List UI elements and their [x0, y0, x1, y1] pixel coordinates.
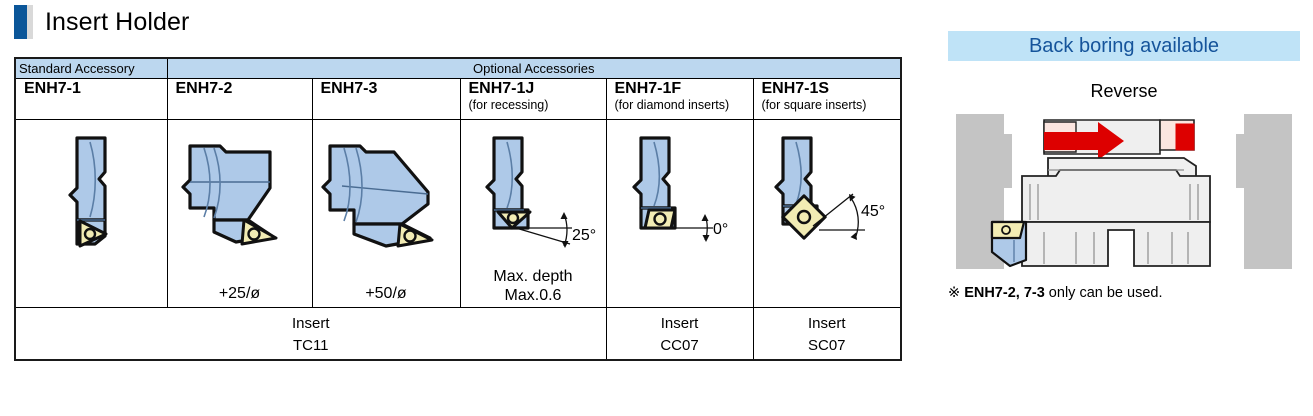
column-name-cell: ENH7-2: [167, 79, 312, 120]
column-name: ENH7-1F: [607, 79, 753, 98]
insert-value: TC11: [16, 335, 606, 357]
column-name-cell: ENH7-1J (for recessing): [460, 79, 606, 120]
column-subtitle: (for diamond inserts): [607, 98, 753, 113]
column-name-cell: ENH7-3: [312, 79, 460, 120]
note-rest-text: only can be used.: [1045, 285, 1163, 301]
page-root: Insert Holder Standard Accessory Optiona…: [0, 0, 1313, 416]
column-name-cell: ENH7-1S (for square inserts): [753, 79, 901, 120]
column-name: ENH7-3: [313, 79, 460, 98]
insert-cell-sc07: Insert SC07: [753, 308, 901, 361]
table-name-row: ENH7-1 ENH7-2 ENH7-3 ENH7-1J (for recess…: [15, 79, 901, 120]
status-badge: Back boring available: [948, 31, 1300, 61]
holder-illustration-enh7-1f: 0°: [607, 120, 753, 268]
tool-holder-angled-25-icon: [174, 124, 306, 264]
tool-holder-diamond-icon: 0°: [617, 124, 743, 264]
insert-cell-tc11: Insert TC11: [15, 308, 606, 361]
table-figure-row: +25/ø: [15, 120, 901, 308]
holder-illustration-enh7-1: [16, 120, 167, 268]
figure-cell-enh7-1f: 0°: [606, 120, 753, 308]
figure-caption-line2: Max.0.6: [461, 286, 606, 305]
figure-cell-enh7-2: +25/ø: [167, 120, 312, 308]
insert-label: Insert: [754, 308, 901, 335]
reverse-label: Reverse: [948, 81, 1300, 102]
angle-label-0: 0°: [713, 221, 728, 238]
tool-holder-angled-50-icon: [316, 124, 456, 264]
usage-note: ※ ENH7-2, 7-3 only can be used.: [948, 285, 1300, 301]
insert-cell-cc07: Insert CC07: [606, 308, 753, 361]
table-group-header-row: Standard Accessory Optional Accessories: [15, 58, 901, 79]
figure-cell-enh7-1s: 45°: [753, 120, 901, 308]
tool-holder-square-icon: 45°: [761, 124, 893, 264]
insert-holder-table: Standard Accessory Optional Accessories …: [14, 57, 902, 361]
title-accent-bar: [14, 5, 27, 39]
figure-caption: +50/ø: [313, 284, 460, 303]
back-boring-illustration-icon: [948, 110, 1300, 273]
insert-label: Insert: [16, 308, 606, 335]
figure-caption: +25/ø: [168, 284, 312, 303]
holder-illustration-enh7-1s: 45°: [754, 120, 901, 268]
figure-caption-line1: Max. depth: [461, 267, 606, 286]
note-bold-text: ENH7-2, 7-3: [964, 285, 1045, 301]
column-name: ENH7-1J: [461, 79, 606, 98]
insert-label: Insert: [607, 308, 753, 335]
group-header-optional: Optional Accessories: [167, 58, 901, 79]
holder-illustration-enh7-1j: 25°: [461, 120, 606, 268]
column-name: ENH7-1: [16, 79, 167, 98]
column-subtitle: (for recessing): [461, 98, 606, 113]
page-title: Insert Holder: [14, 5, 189, 39]
table-insert-row: Insert TC11 Insert CC07 Insert SC07: [15, 308, 901, 361]
back-boring-panel: Back boring available Reverse: [948, 31, 1300, 301]
note-mark-icon: ※: [948, 285, 960, 301]
figure-cell-enh7-1j: 25° Max. depth Max.0.6: [460, 120, 606, 308]
holder-illustration-enh7-3: [313, 120, 460, 268]
figure-cell-enh7-1: [15, 120, 167, 308]
page-title-text: Insert Holder: [45, 5, 189, 39]
column-name: ENH7-1S: [754, 79, 901, 98]
angle-label-25: 25°: [572, 227, 596, 244]
tool-holder-straight-icon: [43, 124, 139, 264]
group-header-standard: Standard Accessory: [15, 58, 167, 79]
insert-value: SC07: [754, 335, 901, 357]
back-boring-diagram: [948, 110, 1300, 273]
column-name-cell: ENH7-1: [15, 79, 167, 120]
insert-value: CC07: [607, 335, 753, 357]
figure-cell-enh7-3: +50/ø: [312, 120, 460, 308]
figure-caption-group: Max. depth Max.0.6: [461, 267, 606, 305]
column-subtitle: (for square inserts): [754, 98, 901, 113]
column-name: ENH7-2: [168, 79, 312, 98]
holder-illustration-enh7-2: [168, 120, 312, 268]
column-name-cell: ENH7-1F (for diamond inserts): [606, 79, 753, 120]
tool-holder-recessing-icon: 25°: [468, 124, 598, 264]
tool-body-icon: [1022, 158, 1210, 266]
angle-label-45: 45°: [861, 203, 885, 220]
